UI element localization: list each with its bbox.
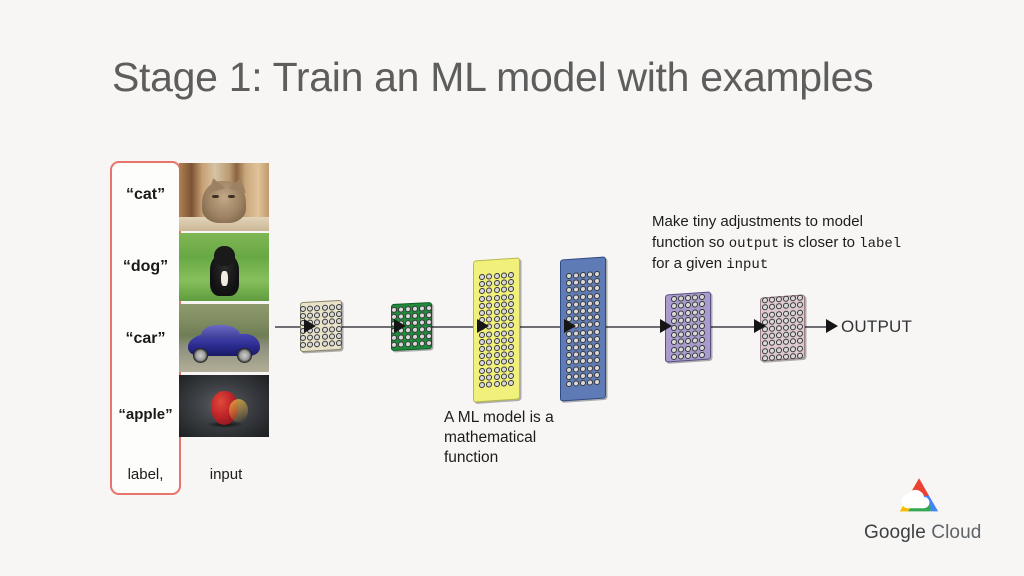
neuron [508,351,514,357]
neuron [314,334,320,340]
neuron [412,334,418,340]
neuron [314,305,320,311]
neuron [769,354,775,360]
neuron [594,357,600,363]
neuron [769,304,775,310]
neuron [398,306,404,312]
neuron [566,381,572,387]
neuron [797,345,803,351]
adjustment-token-label: label [859,236,901,252]
neuron [479,367,485,373]
neuron [479,274,485,280]
neuron [486,309,492,315]
neuron [479,288,485,294]
neuron [580,315,586,321]
neuron [685,324,691,330]
page-title: Stage 1: Train an ML model with examples [112,54,873,101]
neuron [762,304,768,310]
neuron [776,325,782,331]
example-image-car [179,304,269,372]
neuron [494,294,500,300]
neuron [501,337,507,343]
neuron [699,301,705,307]
neuron [419,334,425,340]
neuron [587,350,593,356]
neuron [566,287,572,293]
neuron [405,306,411,312]
neuron [307,341,313,347]
neuron [790,302,796,308]
arrowhead-into-layer5 [660,319,672,333]
neuron [594,271,600,277]
label-column-highlight [110,161,181,495]
neuron [479,360,485,366]
neuron [508,365,514,371]
neuron [336,311,342,317]
model-caption-line-3: function [444,448,594,468]
car-photo-cabin [201,325,241,339]
neuron [776,303,782,309]
neuron [685,331,691,337]
neuron [419,305,425,311]
neuron [486,345,492,351]
neuron [580,279,586,285]
neuron [501,351,507,357]
wordmark-google: Google [864,522,926,543]
neuron [329,333,335,339]
neuron [501,272,507,278]
neuron [587,300,593,306]
slide-canvas: Stage 1: Train an ML model with examples… [0,0,1024,576]
neuron [479,310,485,316]
neuron [587,372,593,378]
neuron [594,285,600,291]
adjustment-token-input: input [726,257,768,273]
neuron [594,321,600,327]
neuron [314,341,320,347]
neuron [692,345,698,351]
example-image-dog [179,233,269,301]
neuron [678,339,684,345]
example-label-cat: “cat” [110,186,181,204]
neuron [494,366,500,372]
neuron [501,280,507,286]
neuron [580,272,586,278]
apple-photo-highlight [229,399,249,423]
cat-photo-eye-right [228,195,235,198]
neuron [685,338,691,344]
neuron [566,309,572,315]
neuron [692,302,698,308]
neuron [762,297,768,303]
neuron [587,365,593,371]
neuron [587,343,593,349]
neuron [405,334,411,340]
neuron [494,323,500,329]
neuron [699,337,705,343]
neuron [573,294,579,300]
neuron [580,351,586,357]
neuron [587,379,593,385]
neuron [486,288,492,294]
arrowhead-into-layer6 [754,319,766,333]
example-image-apple [179,375,269,437]
neuron [573,344,579,350]
neuron [587,286,593,292]
neuron [587,336,593,342]
neuron [426,319,432,325]
neuron [419,326,425,332]
neuron [300,342,306,348]
neuron [508,315,514,321]
neuron [405,341,411,347]
neuron [412,305,418,311]
neuron [573,337,579,343]
neuron [594,372,600,378]
neuron [573,301,579,307]
neuron [566,338,572,344]
neuron [678,303,684,309]
neuron [508,272,514,278]
neuron [479,375,485,381]
neuron [398,335,404,341]
neuron [573,373,579,379]
input-column-caption: input [182,466,270,483]
neuron [776,347,782,353]
neuron [797,331,803,337]
wordmark-cloud: Cloud [931,522,981,543]
neuron [790,310,796,316]
neuron [494,280,500,286]
neuron [685,302,691,308]
neuron [783,339,789,345]
neuron [486,273,492,279]
neuron [580,322,586,328]
neuron [486,352,492,358]
arrowhead-into-layer3 [477,319,489,333]
neuron [419,312,425,318]
neuron [307,305,313,311]
neuron [391,342,397,348]
neuron [692,330,698,336]
neuron [412,327,418,333]
neuron [769,297,775,303]
neuron [797,352,803,358]
example-label-dog: “dog” [110,258,181,276]
neuron [594,278,600,284]
neuron [566,352,572,358]
neuron [486,281,492,287]
neuron [336,318,342,324]
neuron [322,312,328,318]
connector-layer1-to-layer2 [342,326,397,328]
neuron [594,328,600,334]
neuron [322,319,328,325]
neuron [580,358,586,364]
example-label-car: “car” [110,330,181,348]
google-cloud-logo: Google Cloud [864,476,974,544]
neuron [587,329,593,335]
arrowhead-into-layer4 [564,319,576,333]
neuron [797,309,803,315]
neuron [486,381,492,387]
neuron [307,313,313,319]
neuron [797,324,803,330]
neuron [776,354,782,360]
neuron [479,353,485,359]
neuron [587,358,593,364]
neuron [671,339,677,345]
neuron [412,341,418,347]
neuron [329,319,335,325]
neuron [790,317,796,323]
neuron [494,287,500,293]
neuron [783,346,789,352]
neuron [678,310,684,316]
neuron [678,331,684,337]
neuron [587,271,593,277]
neuron [790,338,796,344]
neuron [587,315,593,321]
layer-6-neurons [760,294,805,361]
neuron [580,344,586,350]
neuron [573,280,579,286]
neuron [594,364,600,370]
neuron [391,335,397,341]
neuron [501,323,507,329]
neuron [776,296,782,302]
neuron [685,309,691,315]
neuron [398,342,404,348]
neuron [685,295,691,301]
neuron [412,320,418,326]
neuron [501,344,507,350]
neuron [790,324,796,330]
neuron [594,292,600,298]
neuron [587,293,593,299]
neuron [580,329,586,335]
neuron [783,325,789,331]
neuron [479,295,485,301]
neuron [322,333,328,339]
neuron [501,380,507,386]
neuron [699,308,705,314]
dog-photo-chest-marking [221,271,227,286]
neuron [678,296,684,302]
neuron [494,338,500,344]
neuron [671,354,677,360]
neuron [494,359,500,365]
neuron [566,302,572,308]
neuron [479,382,485,388]
neuron [573,351,579,357]
neuron [769,347,775,353]
neuron [508,286,514,292]
neuron [566,280,572,286]
neuron [508,279,514,285]
neuron [776,318,782,324]
neuron [329,304,335,310]
neuron [566,374,572,380]
neuron [678,324,684,330]
neuron [671,303,677,309]
neuron [494,309,500,315]
neuron [501,308,507,314]
neuron [573,366,579,372]
neuron [508,344,514,350]
neuron [501,316,507,322]
adjustment-text-part-3: for a given [652,255,726,272]
neuron [769,340,775,346]
neuron [494,302,500,308]
neuron [426,304,432,310]
neuron [322,305,328,311]
neuron [692,338,698,344]
neuron [494,345,500,351]
neuron [426,326,432,332]
neuron [566,359,572,365]
neuron [329,326,335,332]
neuron [783,303,789,309]
neuron [769,318,775,324]
neuron [566,345,572,351]
neuron [573,287,579,293]
neuron [776,332,782,338]
neuron [501,330,507,336]
neuron [594,314,600,320]
model-caption-line-2: mathematical [444,428,594,448]
neuron [587,307,593,313]
neuron [671,310,677,316]
neuron [762,340,768,346]
neuron [797,316,803,322]
neuron [762,348,768,354]
example-label-apple: “apple” [110,406,181,423]
arrowhead-into-layer1 [304,319,316,333]
neuron [762,355,768,361]
neuron [336,340,342,346]
neuron [508,301,514,307]
neuron [790,346,796,352]
neuron [685,345,691,351]
neuron [479,339,485,345]
neuron [486,338,492,344]
neuron [762,333,768,339]
neuron [594,343,600,349]
neuron [494,316,500,322]
arrowhead-into-output [826,319,838,333]
neuron [329,311,335,317]
neuron [322,326,328,332]
neuron [566,366,572,372]
neuron [692,309,698,315]
neuron [566,294,572,300]
neuron [594,379,600,385]
neuron [769,326,775,332]
neuron [426,312,432,318]
neuron [336,304,342,310]
neuron [594,350,600,356]
neuron [587,322,593,328]
adjustment-text-part-2: is closer to [779,234,859,251]
google-cloud-wordmark: Google Cloud [864,522,974,544]
neuron [573,308,579,314]
neuron [783,310,789,316]
neuron [508,322,514,328]
network-layer-6-mauve [760,294,805,361]
neuron [486,360,492,366]
neuron [699,352,705,358]
neuron [594,300,600,306]
neuron [508,373,514,379]
arrowhead-into-layer2 [394,319,406,333]
neuron [692,295,698,301]
neuron [494,330,500,336]
neuron [699,344,705,350]
neuron [769,311,775,317]
neuron [580,365,586,371]
neuron [594,336,600,342]
output-label: OUTPUT [841,317,912,337]
model-description-caption: A ML model is a mathematical function [444,408,594,468]
neuron [307,334,313,340]
neuron [419,319,425,325]
neuron [391,306,397,312]
neuron [783,353,789,359]
neuron [580,337,586,343]
neuron [790,353,796,359]
neuron [783,317,789,323]
neuron [797,302,803,308]
neuron [501,359,507,365]
neuron [685,317,691,323]
neuron [762,312,768,318]
neuron [508,337,514,343]
neuron [699,323,705,329]
adjustment-description-caption: Make tiny adjustments to model function … [652,212,912,276]
neuron [494,352,500,358]
neuron [783,296,789,302]
neuron [336,325,342,331]
neuron [783,332,789,338]
neuron [300,306,306,312]
connector-layer3-to-layer4 [520,326,565,328]
google-cloud-mark-icon [896,476,942,518]
neuron [479,281,485,287]
neuron [594,307,600,313]
neuron [580,293,586,299]
neuron [336,333,342,339]
neuron [580,301,586,307]
neuron [412,312,418,318]
neuron [580,373,586,379]
neuron [486,302,492,308]
neuron [573,359,579,365]
neuron [776,311,782,317]
neuron [671,296,677,302]
neuron [329,340,335,346]
neuron [426,333,432,339]
neuron [494,381,500,387]
neuron [573,272,579,278]
neuron [580,308,586,314]
neuron [797,295,803,301]
adjustment-token-output: output [729,236,779,252]
neuron [508,380,514,386]
neuron [508,358,514,364]
neuron [692,352,698,358]
neuron [790,295,796,301]
